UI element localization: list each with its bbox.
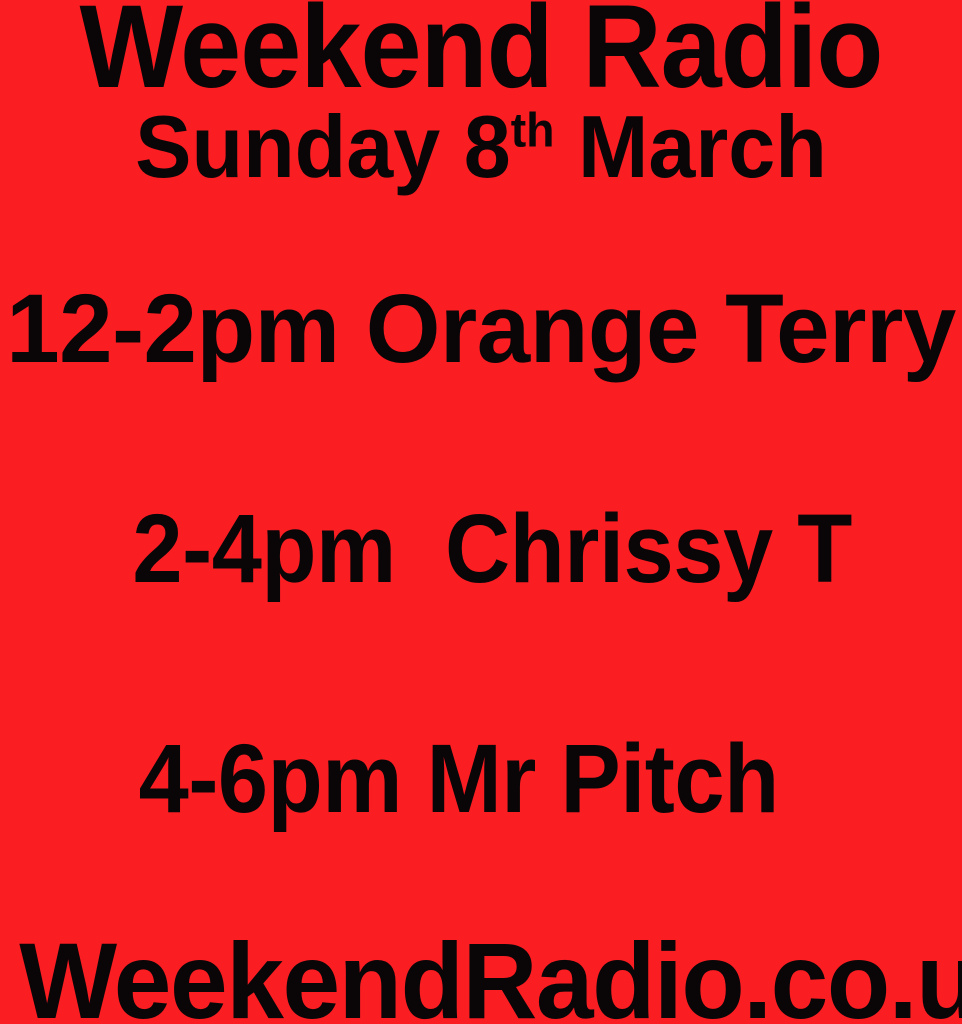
schedule-slot-1: 12-2pm Orange Terry [5,280,957,377]
schedule-slot-2: 2-4pm Chrissy T [34,500,929,597]
broadcast-date: Sunday 8th March [19,103,943,191]
date-ordinal-suffix: th [511,104,555,158]
date-month: March [555,97,827,196]
station-title: Weekend Radio [34,0,929,106]
website-url: WeekendRadio.co.uk [19,927,943,1024]
schedule-slot-3: 4-6pm Mr Pitch [34,730,929,827]
date-day: Sunday 8 [135,97,511,196]
radio-schedule-poster: Weekend Radio Sunday 8th March 12-2pm Or… [0,0,962,1024]
